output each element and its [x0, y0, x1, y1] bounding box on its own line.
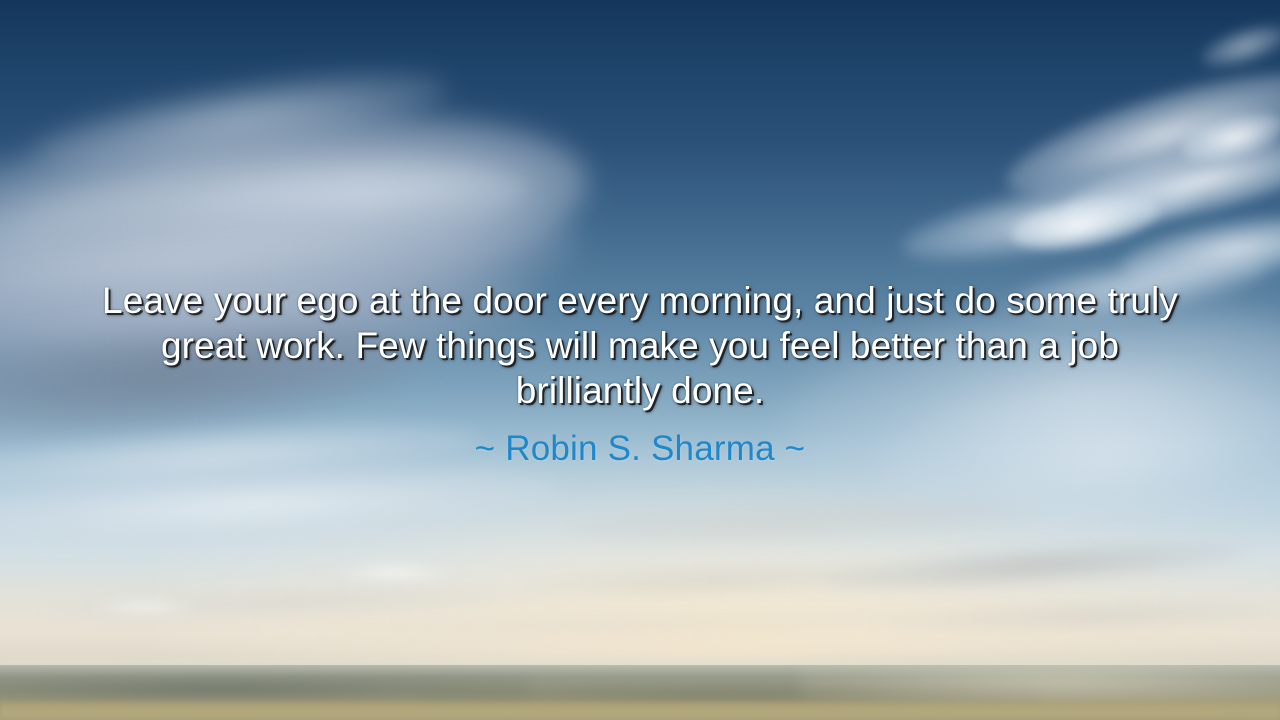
quote-author-attribution: ~ Robin S. Sharma ~ — [90, 427, 1190, 471]
quote-image-canvas: Leave your ego at the door every morning… — [0, 0, 1280, 720]
quote-overlay: Leave your ego at the door every morning… — [0, 0, 1280, 720]
quote-text: Leave your ego at the door every morning… — [90, 278, 1190, 413]
